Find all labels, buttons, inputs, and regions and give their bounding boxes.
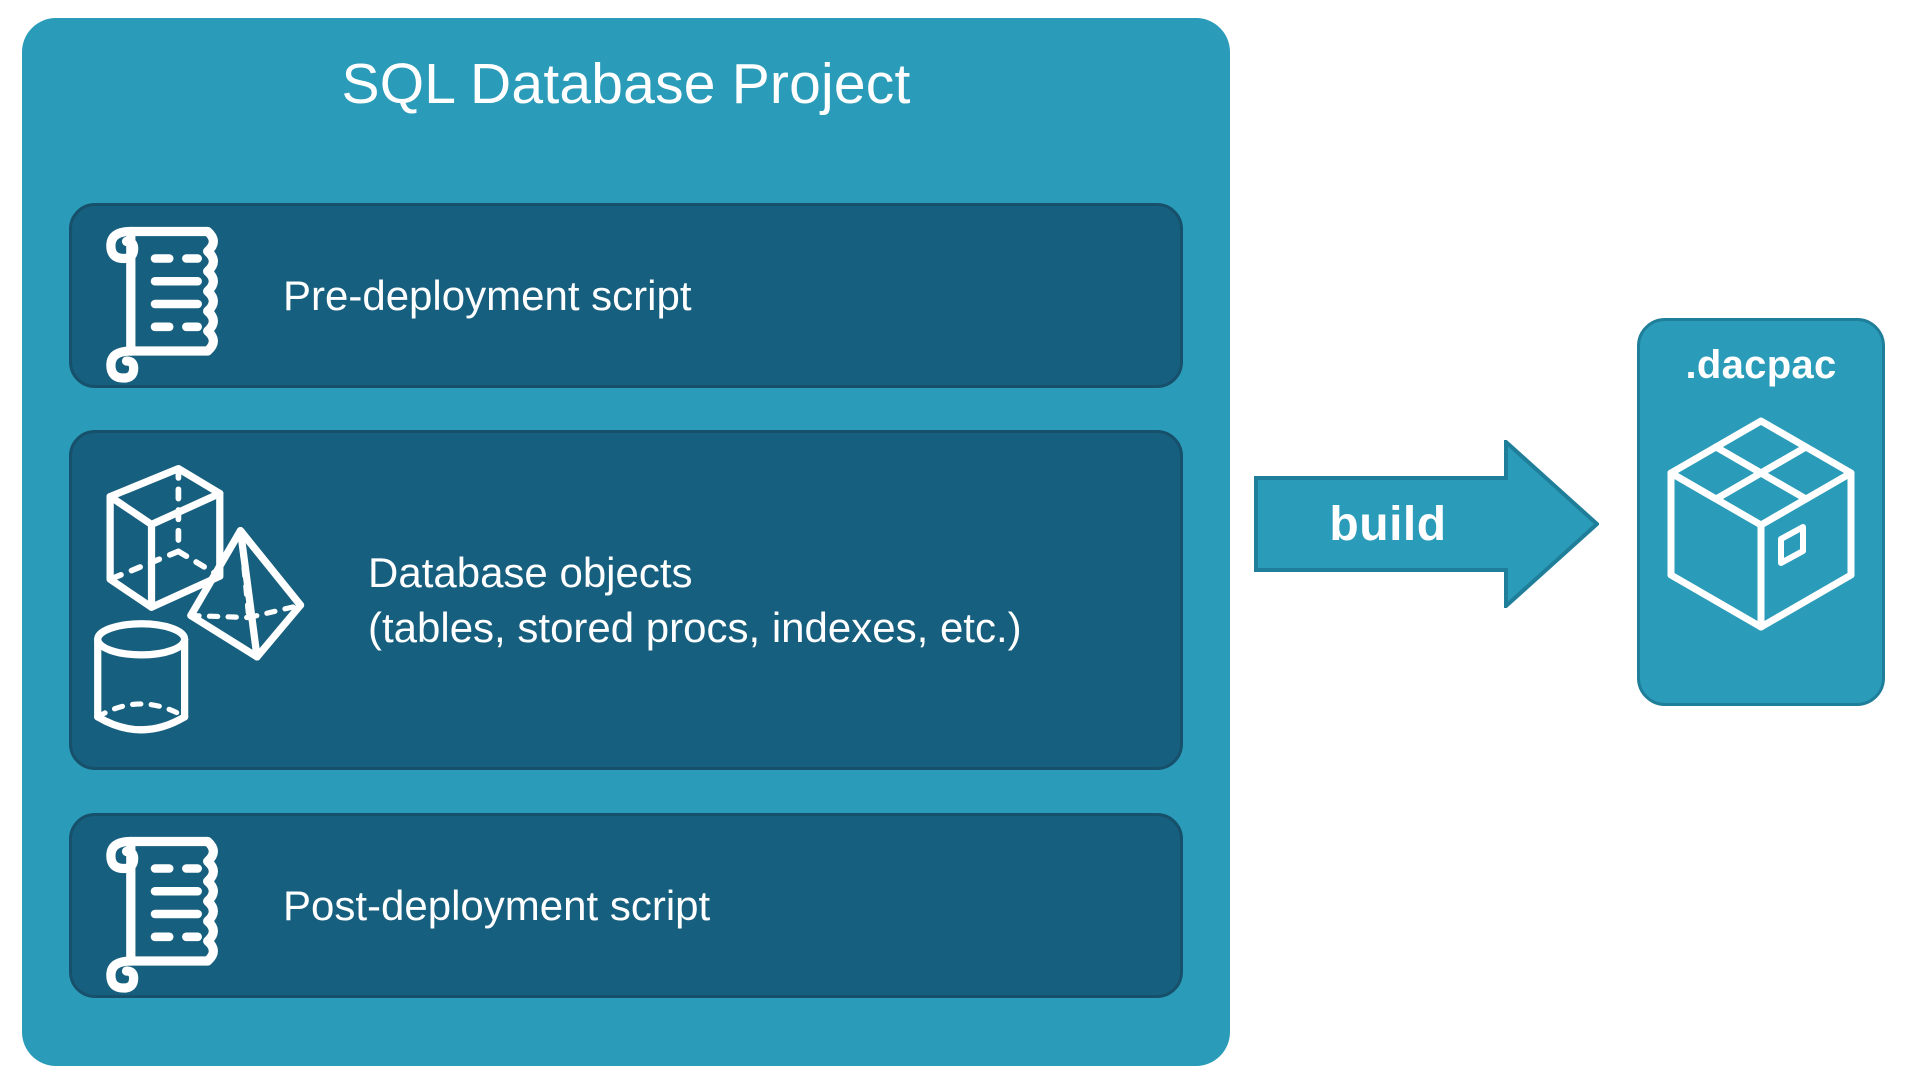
card-database-objects[interactable]: Database objects (tables, stored procs, … xyxy=(69,430,1183,770)
3d-shapes-icon-container xyxy=(72,450,306,750)
card-label-post-deployment: Post-deployment script xyxy=(283,878,710,933)
card-pre-deployment-script[interactable]: Pre-deployment script xyxy=(69,203,1183,388)
page-title: SQL Database Project xyxy=(22,52,1230,118)
cylinder-shape xyxy=(98,624,185,730)
cylinder-hidden-edge xyxy=(98,704,185,717)
package-label-diamond xyxy=(1781,527,1803,563)
3d-shapes-icon xyxy=(86,450,306,750)
scroll-icon-container-2 xyxy=(72,813,261,998)
sql-database-project-panel: SQL Database Project xyxy=(22,18,1230,1066)
card-post-deployment-script[interactable]: Post-deployment script xyxy=(69,813,1183,998)
scroll-icon xyxy=(86,203,261,388)
package-box-icon xyxy=(1663,411,1859,635)
cube-shape xyxy=(110,469,220,608)
scroll-icon-container xyxy=(72,203,261,388)
build-arrow xyxy=(1254,440,1599,608)
card-label-pre-deployment: Pre-deployment script xyxy=(283,268,692,323)
card-label-database-objects: Database objects (tables, stored procs, … xyxy=(368,545,1022,656)
arrow-shape xyxy=(1256,442,1597,606)
dacpac-label: .dacpac xyxy=(1640,343,1882,388)
dacpac-output-panel[interactable]: .dacpac xyxy=(1637,318,1885,706)
diagram-canvas: SQL Database Project xyxy=(0,0,1920,1080)
scroll-icon xyxy=(86,813,261,998)
